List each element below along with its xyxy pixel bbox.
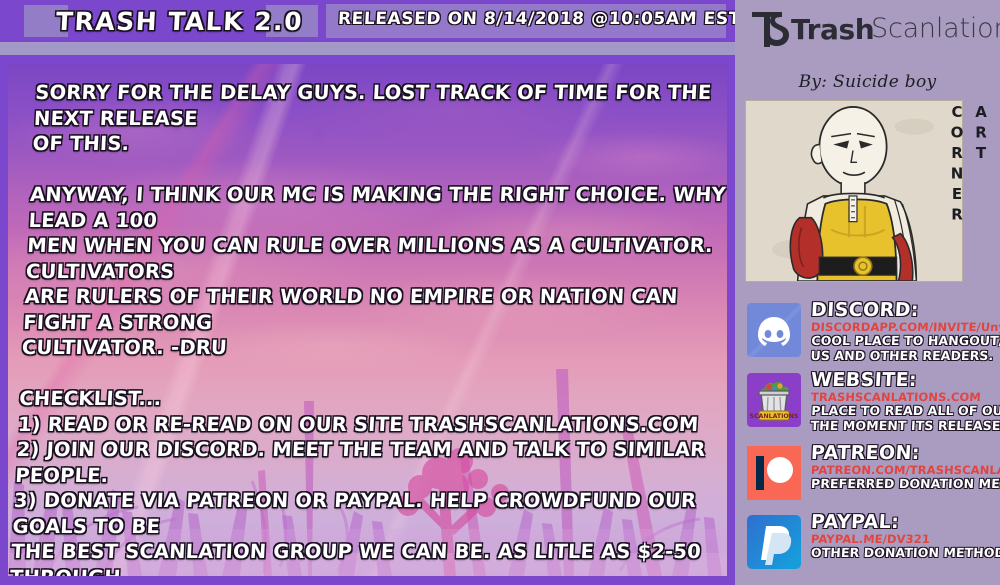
frame-border-left [0,64,8,576]
patreon-title: PATREON: [810,443,999,463]
link-row-discord[interactable]: DISCORD: DISCORDAPP.COM/INVITE/UnyzaEE C… [743,300,995,362]
website-text-block: WEBSITE: TRASHSCANLATIONS.COM PLACE TO R… [811,370,999,433]
discord-description: COOL PLACE TO HANGOUT/TALK US AND OTHER … [810,334,1000,363]
header-divider-strip [0,42,735,55]
link-row-patreon[interactable]: PATREON: PATREON.COM/TRASHSCANLATIONS PR… [743,443,995,505]
frame-border-bottom [0,576,735,585]
trashcan-icon: SCANLATIONS [747,373,801,427]
page-title: TRASH TALK 2.0 [55,7,304,36]
link-row-website[interactable]: SCANLATIONS WEBSITE: TRASHSCANLATIONS.CO… [743,370,995,432]
paypal-text-block: PAYPAL: PAYPAL.ME/DV321 OTHER DONATION M… [811,512,999,561]
paypal-url[interactable]: PAYPAL.ME/DV321 [811,532,1000,546]
discord-title: DISCORD: [810,300,999,320]
art-corner-image [745,100,963,282]
frame-border-right [727,64,735,576]
logo-word-scanlations: Scanlations [871,13,1000,44]
discord-url[interactable]: DISCORDAPP.COM/INVITE/UnyzaEE [811,320,1000,334]
header-gap [0,55,735,64]
artwork-frame: SORRY FOR THE DELAY GUYS. LOST TRACK OF … [8,64,727,576]
patreon-description: PREFERRED DONATION METHOD [811,477,1000,492]
art-corner-label: ART CORNER [967,103,993,283]
patreon-url[interactable]: PATREON.COM/TRASHSCANLATIONS [811,463,1000,477]
paypal-description: OTHER DONATION METHOD. [811,546,1000,561]
logo-word-trash: Trash [791,13,874,46]
main-panel: TRASH TALK 2.0 RELEASED ON 8/14/2018 @10… [0,0,735,585]
paypal-title: PAYPAL: [810,512,999,532]
discord-icon [747,303,801,357]
discord-text-block: DISCORD: DISCORDAPP.COM/INVITE/UnyzaEE C… [811,300,999,363]
announcement-body-text: SORRY FOR THE DELAY GUYS. LOST TRACK OF … [8,80,727,576]
link-row-paypal[interactable]: PAYPAL: PAYPAL.ME/DV321 OTHER DONATION M… [743,512,995,574]
website-title: WEBSITE: [810,370,999,390]
website-url[interactable]: TRASHSCANLATIONS.COM [811,390,1000,404]
info-sidebar: Trash Scanlations By: Suicide boy [735,0,1000,585]
brand-logo: Trash Scanlations [743,6,999,50]
release-announcement-page: TRASH TALK 2.0 RELEASED ON 8/14/2018 @10… [0,0,1000,585]
website-description: PLACE TO READ ALL OF OUR S THE MOMENT IT… [810,404,1000,433]
artist-byline: By: Suicide boy [735,72,1000,92]
svg-text:SCANLATIONS: SCANLATIONS [750,413,799,420]
paypal-icon [747,515,801,569]
patreon-icon [747,446,801,500]
ts-monogram-icon [748,6,796,50]
release-timestamp: RELEASED ON 8/14/2018 @10:05AM EST. [337,9,745,29]
patreon-text-block: PATREON: PATREON.COM/TRASHSCANLATIONS PR… [811,443,999,492]
